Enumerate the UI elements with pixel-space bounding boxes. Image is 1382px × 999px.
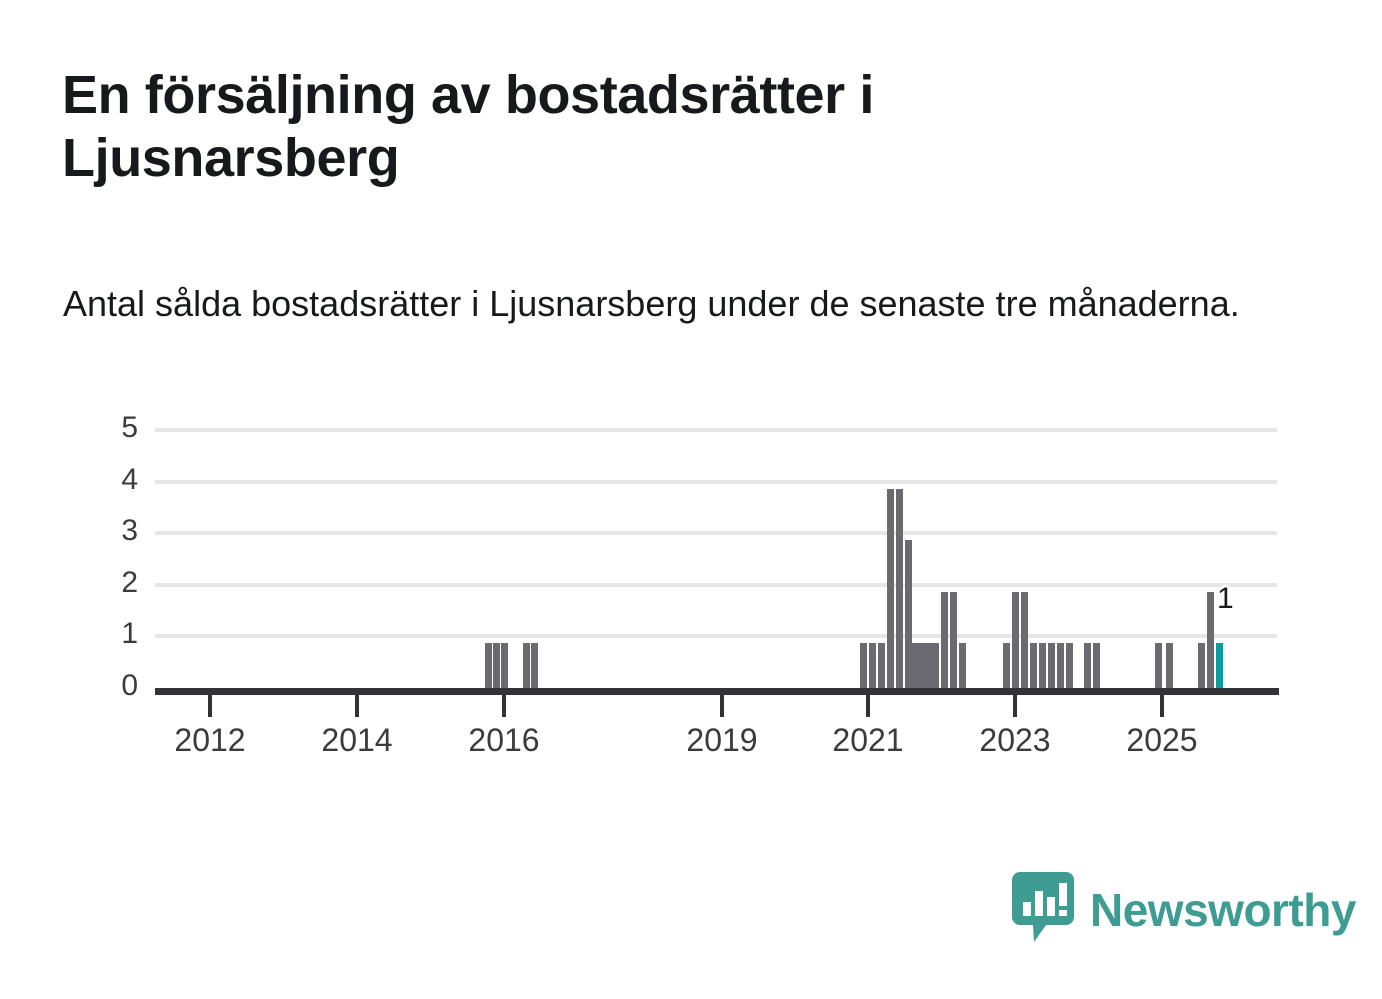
y-tick-label: 1 (94, 619, 138, 649)
bar-value-label: 1 (1217, 582, 1234, 616)
x-tick-label: 2016 (468, 722, 539, 759)
chart-page: En försäljning av bostadsrätter i Ljusna… (0, 0, 1382, 999)
bar-chart: 012345 1 2012201420162019202120232025 (0, 430, 1382, 770)
y-tick-label: 0 (94, 671, 138, 701)
plot-area: 1 (155, 430, 1277, 695)
bar (950, 592, 957, 695)
x-tick (355, 695, 359, 717)
x-tick (720, 695, 724, 717)
gridline (155, 634, 1277, 638)
gridline (155, 428, 1277, 432)
newsworthy-logo: Newsworthy (1012, 872, 1356, 947)
x-tick (502, 695, 506, 717)
x-tick-label: 2025 (1126, 722, 1197, 759)
x-tick (1160, 695, 1164, 717)
x-tick-label: 2021 (832, 722, 903, 759)
y-tick-label: 4 (94, 465, 138, 495)
bar (1012, 592, 1019, 695)
x-tick (866, 695, 870, 717)
bar (941, 592, 948, 695)
bar (1207, 592, 1214, 695)
x-tick (208, 695, 212, 717)
bar (1021, 592, 1028, 695)
gridline (155, 583, 1277, 587)
y-tick-label: 5 (94, 413, 138, 443)
bar (905, 540, 912, 695)
y-tick-label: 3 (94, 516, 138, 546)
x-axis-line (155, 688, 1279, 695)
x-tick-label: 2014 (321, 722, 392, 759)
x-tick (1013, 695, 1017, 717)
x-tick-label: 2019 (686, 722, 757, 759)
gridline (155, 480, 1277, 484)
page-subtitle: Antal sålda bostadsrätter i Ljusnarsberg… (63, 278, 1333, 329)
y-axis: 012345 (90, 430, 138, 710)
x-tick-label: 2012 (174, 722, 245, 759)
logo-wordmark: Newsworthy (1090, 887, 1356, 933)
bar (896, 489, 903, 695)
page-title: En försäljning av bostadsrätter i Ljusna… (62, 64, 1062, 190)
bar (887, 489, 894, 695)
bar-chart-speech-bubble-icon (1012, 872, 1074, 947)
y-tick-label: 2 (94, 568, 138, 598)
x-tick-label: 2023 (979, 722, 1050, 759)
gridline (155, 531, 1277, 535)
